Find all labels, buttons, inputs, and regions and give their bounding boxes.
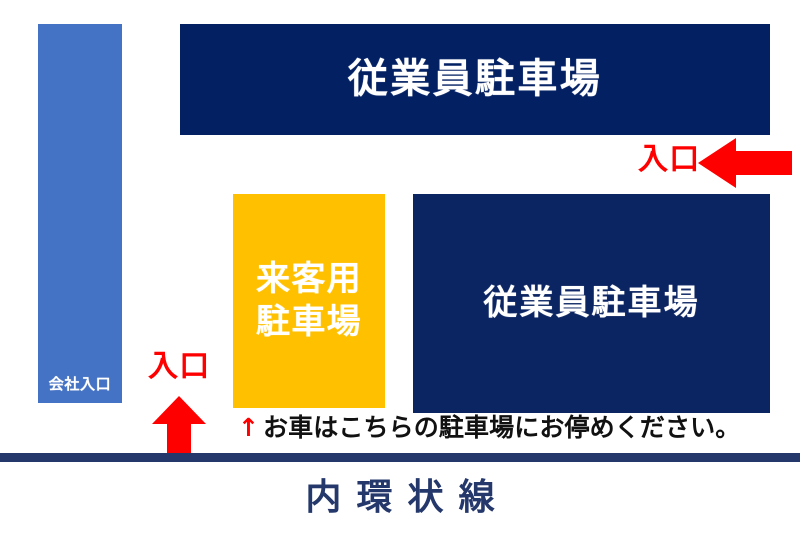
employee-parking-right-label: 従業員駐車場: [483, 284, 699, 322]
caption-arrow-up-icon: ↑: [238, 415, 259, 440]
visitor-parking-label: 来客用 駐車場: [256, 258, 362, 344]
entrance-label-bottom: 入口: [148, 352, 210, 382]
employee-parking-top-area: 従業員駐車場: [180, 24, 770, 135]
visitor-parking-area: 来客用 駐車場: [233, 194, 385, 408]
company-entrance-label: 会社入口: [49, 376, 111, 393]
parking-caption: ↑ お車はこちらの駐車場にお停めください。: [238, 415, 740, 440]
employee-parking-right-area: 従業員駐車場: [413, 194, 770, 413]
road-divider-line: [0, 453, 800, 462]
road-name-label: 内環状線: [0, 480, 800, 516]
caption-text: お車はこちらの駐車場にお停めください。: [263, 415, 740, 440]
arrow-left-icon: [698, 138, 792, 188]
employee-parking-top-label: 従業員駐車場: [348, 57, 602, 102]
parking-lot-diagram: 会社入口 従業員駐車場 来客用 駐車場 従業員駐車場 入口 入口 ↑ お車はこち…: [0, 0, 800, 554]
arrow-up-icon: [152, 396, 206, 458]
entrance-label-right: 入口: [638, 145, 700, 175]
company-entrance-bar: 会社入口: [38, 24, 122, 403]
